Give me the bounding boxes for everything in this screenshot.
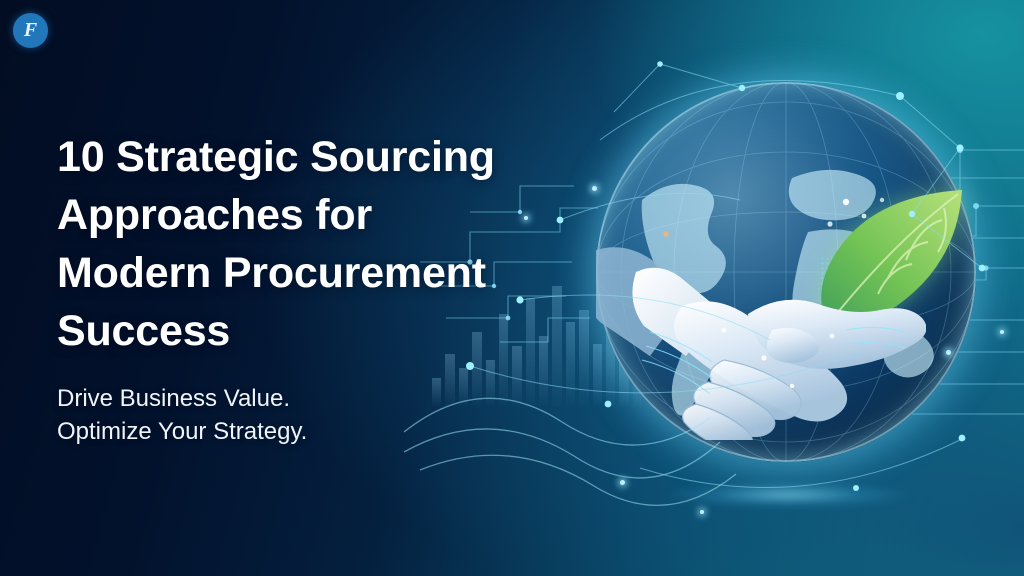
sparkle-dot [1000,330,1004,334]
sparkle-dot [592,186,597,191]
page-title-line-4: Success [57,302,577,360]
page-subtitle-line-2: Optimize Your Strategy. [57,415,517,448]
sparkle-dot [620,480,625,485]
page-title-line-3: Modern Procurement [57,244,577,302]
page-subtitle-line-1: Drive Business Value. [57,382,517,415]
page-title-line-2: Approaches for [57,186,577,244]
page-subtitle: Drive Business Value. Optimize Your Stra… [57,382,517,448]
brand-logo-glyph: F [24,20,37,40]
marketing-banner: F 10 Strategic Sourcing Approaches for M… [0,0,1024,576]
page-title: 10 Strategic Sourcing Approaches for Mod… [57,128,577,360]
page-title-line-1: 10 Strategic Sourcing [57,128,577,186]
sparkle-dot [700,510,704,514]
brand-logo[interactable]: F [13,13,48,48]
sparkle-dot [946,350,951,355]
